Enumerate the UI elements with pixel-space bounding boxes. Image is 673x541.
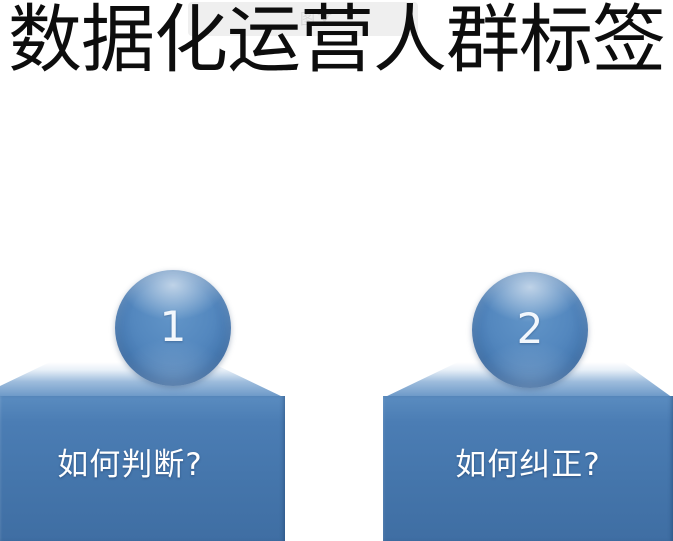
sphere-number-1: 1 <box>115 270 231 386</box>
pedestal-label-1: 如何判断? <box>0 448 260 482</box>
sphere-badge-1[interactable]: 1 <box>115 270 231 386</box>
pedestal-label-2: 如何纠正? <box>383 448 673 482</box>
sphere-badge-2[interactable]: 2 <box>472 272 588 388</box>
pedestal-item-1[interactable]: 如何判断? <box>0 362 285 541</box>
page-title: 数据化运营人群标签 <box>0 0 673 86</box>
pedestal-item-2[interactable]: 如何纠正? <box>383 362 673 541</box>
sphere-number-2: 2 <box>472 272 588 388</box>
slide-canvas: 图文 数据化运营人群标签 如何判断? 1 <box>0 0 673 541</box>
